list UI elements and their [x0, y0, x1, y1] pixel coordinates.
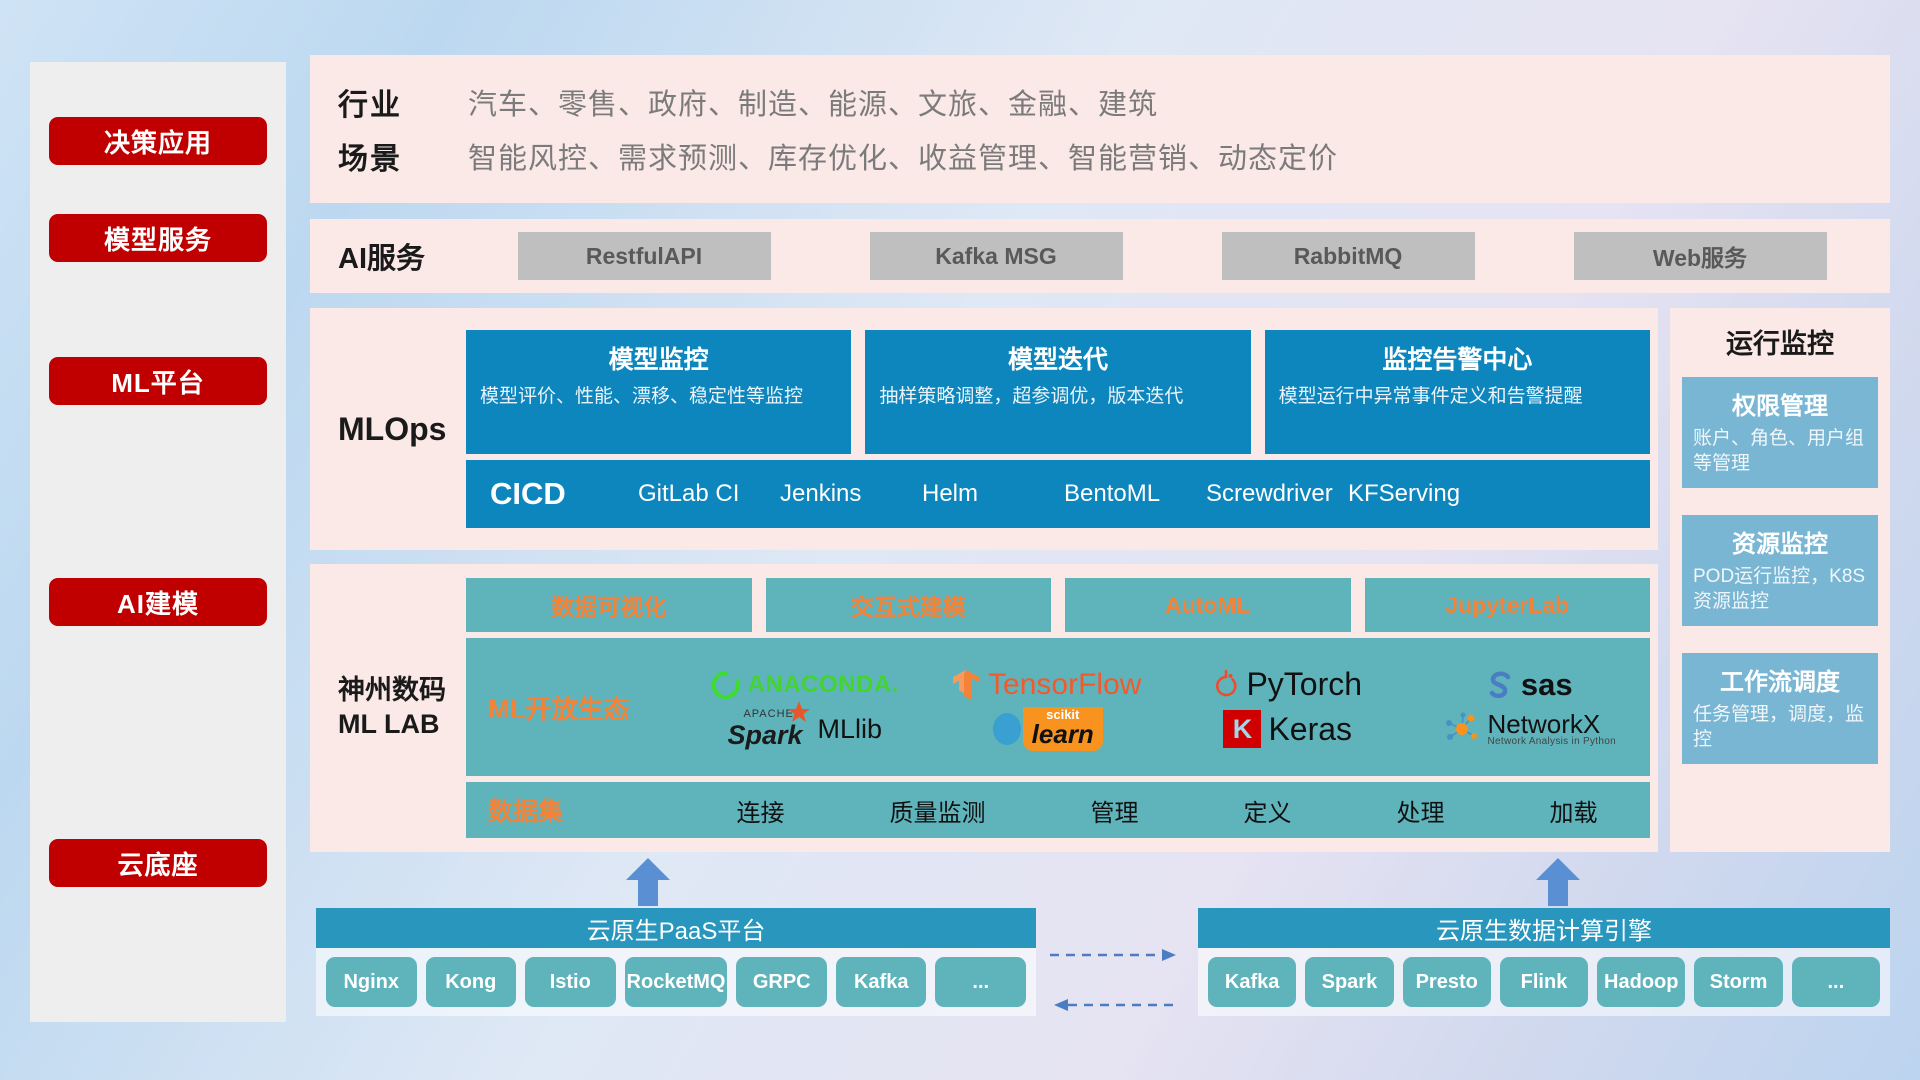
runtime-monitoring-title: 运行监控: [1682, 322, 1878, 361]
runtime-monitoring-rail: 运行监控 权限管理 账户、角色、用户组等管理 资源监控 POD运行监控，K8S资…: [1670, 308, 1890, 852]
sidebar-item-cloud-foundation[interactable]: 云底座: [49, 839, 267, 887]
sidebar-item-label: 模型服务: [104, 220, 212, 257]
dashed-arrow-left-icon: [1050, 998, 1180, 1012]
card-desc: 模型运行中异常事件定义和告警提醒: [1279, 384, 1636, 410]
card-desc: 账户、角色、用户组等管理: [1693, 426, 1867, 476]
sas-logo: sas: [1409, 667, 1651, 703]
ai-service-item[interactable]: RestfulAPI: [518, 232, 771, 280]
ai-service-item[interactable]: Web服务: [1574, 232, 1827, 280]
ai-services-band: AI服务 RestfulAPI Kafka MSG RabbitMQ Web服务: [310, 219, 1890, 293]
paas-tag-kafka[interactable]: Kafka: [836, 957, 927, 1007]
cloud-foundation-section: 云原生PaaS平台 Nginx Kong Istio RocketMQ GRPC…: [310, 858, 1890, 1033]
keras-logo: K Keras: [1167, 710, 1409, 748]
cicd-item[interactable]: Jenkins: [780, 480, 922, 508]
paas-tag-istio[interactable]: Istio: [525, 957, 616, 1007]
card-desc: 任务管理，调度，监控: [1693, 702, 1867, 752]
spark-mllib-logo: APACHE Spark MLlib: [684, 708, 926, 751]
scikit-learn-badge: scikit learn: [1023, 707, 1103, 751]
scikit-learn-logo: scikit learn: [926, 707, 1168, 751]
ai-modeling-band: 神州数码 ML LAB 数据可视化 交互式建模 AutoML JupyterLa…: [310, 564, 1658, 852]
sas-mark-icon: [1486, 670, 1514, 700]
decision-apps-band: 行业 汽车、零售、政府、制造、能源、文旅、金融、建筑 场景 智能风控、需求预测、…: [310, 55, 1890, 203]
sidebar-item-ai-modeling[interactable]: AI建模: [49, 578, 267, 626]
anaconda-logo: ANACONDA.: [684, 670, 926, 700]
paas-platform-block: 云原生PaaS平台 Nginx Kong Istio RocketMQ GRPC…: [316, 908, 1036, 1016]
paas-tag-list: Nginx Kong Istio RocketMQ GRPC Kafka ...: [316, 948, 1036, 1016]
dataset-label: 数据集: [488, 792, 684, 828]
networkx-tagline: Network Analysis in Python: [1488, 737, 1616, 747]
data-engine-block: 云原生数据计算引擎 Kafka Spark Presto Flink Hadoo…: [1198, 908, 1890, 1016]
anaconda-wordmark: ANACONDA.: [748, 671, 899, 699]
mlops-card-alert-center[interactable]: 监控告警中心 模型运行中异常事件定义和告警提醒: [1265, 330, 1650, 454]
card-title: 监控告警中心: [1279, 340, 1636, 376]
mlops-label: MLOps: [338, 411, 466, 448]
cicd-item[interactable]: BentoML: [1064, 480, 1206, 508]
ml-ecosystem-row: ML开放生态 ANACONDA.: [466, 638, 1650, 776]
networkx-wordmark: NetworkX: [1488, 711, 1616, 737]
tensorflow-logo: TensorFlow: [926, 668, 1168, 702]
dataset-item-connect[interactable]: 连接: [737, 793, 785, 828]
ai-services-label: AI服务: [338, 235, 468, 277]
dataset-row: 数据集 连接 质量监测 管理 定义 处理 加载: [466, 782, 1650, 838]
engine-tag-storm[interactable]: Storm: [1694, 957, 1782, 1007]
mlops-band: MLOps 模型监控 模型评价、性能、漂移、稳定性等监控 模型迭代 抽样策略调整…: [310, 308, 1658, 550]
architecture-main-column: 行业 汽车、零售、政府、制造、能源、文旅、金融、建筑 场景 智能风控、需求预测、…: [310, 55, 1890, 852]
paas-tag-grpc[interactable]: GRPC: [736, 957, 827, 1007]
engine-tag-flink[interactable]: Flink: [1500, 957, 1588, 1007]
sidebar-item-ml-platform[interactable]: ML平台: [49, 357, 267, 405]
card-title: 工作流调度: [1693, 662, 1867, 697]
networkx-graph-icon: [1443, 712, 1481, 746]
paas-up-arrow-icon: [625, 858, 671, 906]
dataset-item-quality-monitoring[interactable]: 质量监测: [890, 793, 986, 828]
sidebar-item-decision-apps[interactable]: 决策应用: [49, 117, 267, 165]
platform-section: MLOps 模型监控 模型评价、性能、漂移、稳定性等监控 模型迭代 抽样策略调整…: [310, 308, 1890, 852]
engine-tag-hadoop[interactable]: Hadoop: [1597, 957, 1685, 1007]
spark-star-icon: [787, 700, 811, 724]
sidebar-item-label: 决策应用: [104, 123, 212, 160]
card-title: 权限管理: [1693, 386, 1867, 421]
dataset-item-management[interactable]: 管理: [1091, 793, 1139, 828]
platform-left-column: MLOps 模型监控 模型评价、性能、漂移、稳定性等监控 模型迭代 抽样策略调整…: [310, 308, 1658, 852]
cicd-label: CICD: [490, 476, 638, 512]
tool-interactive-modeling[interactable]: 交互式建模: [766, 578, 1052, 632]
paas-tag-nginx[interactable]: Nginx: [326, 957, 417, 1007]
mlops-body: 模型监控 模型评价、性能、漂移、稳定性等监控 模型迭代 抽样策略调整，超参调优，…: [466, 330, 1658, 528]
scenario-row: 场景 智能风控、需求预测、库存优化、收益管理、智能营销、动态定价: [338, 129, 1890, 183]
ml-lab-label: 神州数码 ML LAB: [338, 674, 466, 742]
data-engine-title: 云原生数据计算引擎: [1198, 908, 1890, 948]
learn-word: learn: [1032, 721, 1094, 748]
dashed-arrow-right-icon: [1050, 948, 1180, 962]
dataset-item-list: 连接 质量监测 管理 定义 处理 加载: [684, 793, 1650, 828]
ai-service-item[interactable]: RabbitMQ: [1222, 232, 1475, 280]
pytorch-logo: PyTorch: [1167, 666, 1409, 703]
sidebar-item-label: ML平台: [111, 363, 205, 400]
sas-wordmark: sas: [1521, 667, 1573, 703]
engine-tag-kafka[interactable]: Kafka: [1208, 957, 1296, 1007]
monitor-card-permission[interactable]: 权限管理 账户、角色、用户组等管理: [1682, 377, 1878, 488]
cicd-item[interactable]: GitLab CI: [638, 480, 780, 508]
ai-service-item[interactable]: Kafka MSG: [870, 232, 1123, 280]
tensorflow-wordmark: TensorFlow: [988, 668, 1141, 702]
sidebar-item-label: AI建模: [117, 584, 199, 621]
industry-values: 汽车、零售、政府、制造、能源、文旅、金融、建筑: [468, 81, 1158, 123]
engine-up-arrow-icon: [1535, 858, 1581, 906]
paas-tag-rocketmq[interactable]: RocketMQ: [625, 957, 728, 1007]
cicd-item[interactable]: KFServing: [1348, 480, 1490, 508]
engine-tag-presto[interactable]: Presto: [1403, 957, 1491, 1007]
scikit-blob-icon: [990, 711, 1024, 747]
mlops-card-list: 模型监控 模型评价、性能、漂移、稳定性等监控 模型迭代 抽样策略调整，超参调优，…: [466, 330, 1650, 454]
scenario-values: 智能风控、需求预测、库存优化、收益管理、智能营销、动态定价: [468, 135, 1338, 177]
pytorch-wordmark: PyTorch: [1246, 666, 1362, 703]
layer-label-rail: 决策应用 模型服务 ML平台 AI建模 云底座: [30, 62, 286, 1022]
monitor-card-workflow[interactable]: 工作流调度 任务管理，调度，监控: [1682, 653, 1878, 764]
anaconda-mark-icon: [711, 670, 741, 700]
card-title: 资源监控: [1693, 524, 1867, 559]
industry-row: 行业 汽车、零售、政府、制造、能源、文旅、金融、建筑: [338, 75, 1890, 129]
cicd-item[interactable]: Screwdriver: [1206, 480, 1348, 508]
dataset-item-loading[interactable]: 加载: [1550, 793, 1598, 828]
tool-jupyterlab[interactable]: JupyterLab: [1365, 578, 1651, 632]
mllib-wordmark: MLlib: [818, 714, 883, 745]
paas-platform-title: 云原生PaaS平台: [316, 908, 1036, 948]
engine-tag-list: Kafka Spark Presto Flink Hadoop Storm ..…: [1198, 948, 1890, 1016]
tensorflow-mark-icon: [951, 668, 981, 702]
keras-wordmark: Keras: [1268, 711, 1352, 748]
mlops-card-model-iteration[interactable]: 模型迭代 抽样策略调整，超参调优，版本迭代: [865, 330, 1250, 454]
ai-services-list: RestfulAPI Kafka MSG RabbitMQ Web服务: [468, 232, 1890, 280]
scenario-key: 场景: [338, 134, 468, 178]
industry-key: 行业: [338, 80, 468, 124]
monitor-card-resource[interactable]: 资源监控 POD运行监控，K8S资源监控: [1682, 515, 1878, 626]
spark-wordmark: Spark: [727, 720, 802, 751]
card-desc: 抽样策略调整，超参调优，版本迭代: [879, 384, 1236, 410]
card-title: 模型监控: [480, 340, 837, 376]
paas-tag-kong[interactable]: Kong: [426, 957, 517, 1007]
dataset-item-processing[interactable]: 处理: [1397, 793, 1445, 828]
sidebar-item-model-service[interactable]: 模型服务: [49, 214, 267, 262]
card-desc: POD运行监控，K8S资源监控: [1693, 564, 1867, 614]
ml-tool-row: 数据可视化 交互式建模 AutoML JupyterLab: [466, 578, 1650, 632]
mlops-card-model-monitoring[interactable]: 模型监控 模型评价、性能、漂移、稳定性等监控: [466, 330, 851, 454]
paas-tag-more[interactable]: ...: [935, 957, 1026, 1007]
tool-data-visualization[interactable]: 数据可视化: [466, 578, 752, 632]
tool-automl[interactable]: AutoML: [1065, 578, 1351, 632]
ml-lab-label-line2: ML LAB: [338, 708, 466, 742]
card-desc: 模型评价、性能、漂移、稳定性等监控: [480, 384, 837, 410]
engine-tag-more[interactable]: ...: [1792, 957, 1880, 1007]
networkx-logo: NetworkX Network Analysis in Python: [1409, 711, 1651, 747]
engine-tag-spark[interactable]: Spark: [1305, 957, 1393, 1007]
card-title: 模型迭代: [879, 340, 1236, 376]
cicd-row: CICD GitLab CI Jenkins Helm BentoML Scre…: [466, 460, 1650, 528]
pytorch-mark-icon: [1213, 670, 1239, 700]
ml-ecosystem-logo-grid: ANACONDA. TensorFlow: [684, 663, 1650, 752]
ml-lab-body: 数据可视化 交互式建模 AutoML JupyterLab ML开放生态: [466, 578, 1658, 838]
keras-mark-icon: K: [1223, 710, 1261, 748]
keras-k-glyph: K: [1233, 714, 1253, 745]
ml-lab-label-line1: 神州数码: [338, 674, 466, 708]
dataset-item-definition[interactable]: 定义: [1244, 793, 1292, 828]
cicd-item[interactable]: Helm: [922, 480, 1064, 508]
ml-ecosystem-label: ML开放生态: [488, 689, 684, 726]
sidebar-item-label: 云底座: [117, 845, 198, 882]
